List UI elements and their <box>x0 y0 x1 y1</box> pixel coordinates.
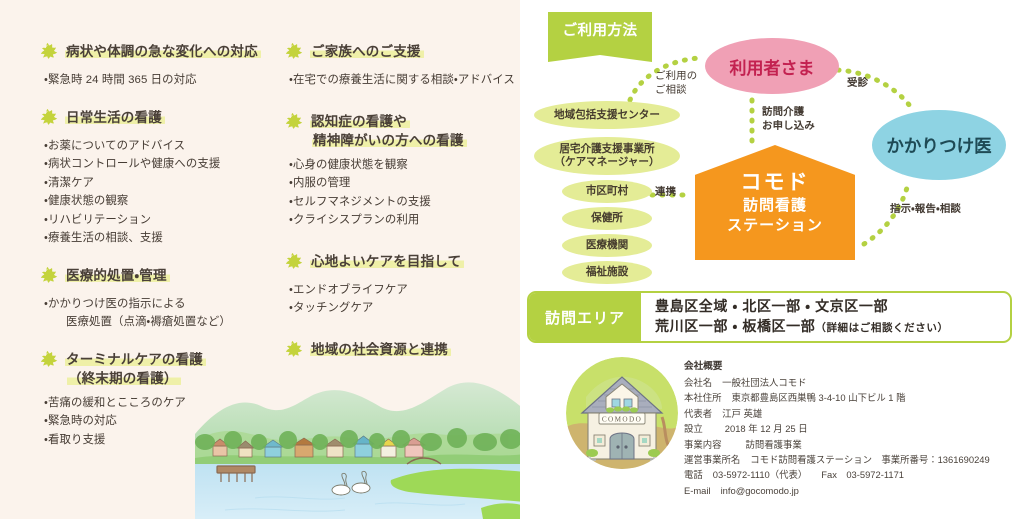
company-info-value: 江戸 英雄 <box>722 408 762 419</box>
partner-pill-municipality: 市区町村 <box>562 180 652 203</box>
company-info-value: コモド訪問看護ステーション 事業所番号：1361690249 <box>750 454 989 465</box>
leaf-icon <box>40 351 60 373</box>
svg-text:COMODO: COMODO <box>602 416 642 424</box>
leaf-icon <box>285 341 305 363</box>
list-item: ・在宅での療養生活に関する相談・アドバイス <box>289 71 520 90</box>
leaf-icon <box>285 43 305 65</box>
list-item-text: ・かかりつけ医の指示による <box>44 298 186 310</box>
list-item: ・健康状態の観察 <box>44 192 285 211</box>
service-title: 日常生活の看護 <box>65 108 165 127</box>
service-heading: ご家族へのご支援 <box>285 42 520 65</box>
list-item: ・心身の健康状態を観察 <box>289 156 520 175</box>
service-section: 心地よいケアを目指して ・エンドオブライフケア ・タッチングケア <box>285 252 520 318</box>
flow-label-cooperation: 連携 <box>655 186 676 200</box>
services-column-b: ご家族へのご支援 ・在宅での療養生活に関する相談・アドバイス 認知症の看護や 精… <box>285 42 520 377</box>
company-info-row: 本社住所東京都豊島区西巣鴨 3-4-10 山下ビル 1 階 <box>684 390 1014 405</box>
usage-method-label: ご利用方法 <box>563 12 638 50</box>
service-item-list: ・かかりつけ医の指示による 医療処置（点滴・褥瘡処置など） <box>40 295 285 332</box>
flow-label-report: 指示・報告・相談 <box>890 203 961 217</box>
company-info-row: E-mailinfo@gocomodo.jp <box>684 483 1014 498</box>
list-item: ・リハビリテーション <box>44 211 285 230</box>
visiting-area-tag-label: 訪問エリア <box>545 307 625 328</box>
company-info-key: 運営事業所名 <box>684 452 740 467</box>
list-item: ・お薬についてのアドバイス <box>44 137 285 156</box>
company-info-key: E-mail <box>684 483 711 498</box>
company-info-key: 設立 <box>684 421 703 436</box>
visiting-area-text: 豊島区全域 ・ 北区一部 ・ 文京区一部 荒川区一部 ・ 板橋区一部（詳細はご相… <box>641 293 1010 341</box>
company-info-row: 代表者江戸 英雄 <box>684 406 1014 421</box>
list-item: ・クライシスプランの利用 <box>289 211 520 230</box>
list-item-subtext: 医療処置（点滴・褥瘡処置など） <box>54 313 285 332</box>
company-info-value: 東京都豊島区西巣鴨 3-4-10 山下ビル 1 階 <box>732 392 906 403</box>
services-panel: 病状や体調の急な変化への対応 ・緊急時 24 時間 365 日の対応 日常生活の… <box>0 0 520 519</box>
usage-method-banner: ご利用方法 <box>548 12 652 62</box>
company-info-key: 本社住所 <box>684 390 722 405</box>
list-item: ・緊急時 24 時間 365 日の対応 <box>44 71 285 90</box>
partner-pill-care-manager: 居宅介護支援事業所 （ケアマネージャー） <box>534 137 680 175</box>
service-item-list: ・緊急時 24 時間 365 日の対応 <box>40 71 285 90</box>
comodo-house-illustration: COMODO <box>566 357 678 469</box>
visiting-area-tag: 訪問エリア <box>529 293 641 341</box>
company-info-row: 事業内容訪問看護事業 <box>684 437 1014 452</box>
leaf-icon <box>40 109 60 131</box>
service-heading: 日常生活の看護 <box>40 108 285 131</box>
visiting-area-note: （詳細はご相談ください） <box>815 322 948 334</box>
list-item: ・セルフマネジメントの支援 <box>289 193 520 212</box>
leaf-icon <box>40 267 60 289</box>
visiting-area-box: 訪問エリア 豊島区全域 ・ 北区一部 ・ 文京区一部 荒川区一部 ・ 板橋区一部… <box>527 291 1012 343</box>
service-section: 地域の社会資源と連携 <box>285 340 520 363</box>
service-item-list: ・在宅での療養生活に関する相談・アドバイス <box>285 71 520 90</box>
service-heading: 地域の社会資源と連携 <box>285 340 520 363</box>
service-title: 病状や体調の急な変化への対応 <box>65 42 261 61</box>
company-info-row: 電話03-5972-1110（代表） Fax 03-5972-1171 <box>684 467 1014 482</box>
partner-label: 居宅介護支援事業所 （ケアマネージャー） <box>554 143 659 169</box>
list-item: ・エンドオブライフケア <box>289 281 520 300</box>
company-info-row: 会社名一般社団法人コモド <box>684 375 1014 390</box>
service-heading: 認知症の看護や 精神障がいの方への看護 <box>285 112 520 150</box>
partner-pill-medical-institution: 医療機関 <box>562 234 652 257</box>
service-item-list: ・心身の健康状態を観察 ・内服の管理 ・セルフマネジメントの支援 ・クライシスプ… <box>285 156 520 230</box>
service-heading: 医療的処置・管理 <box>40 266 285 289</box>
service-title: 心地よいケアを目指して <box>310 252 464 271</box>
station-name-line3: ステーション <box>727 216 823 236</box>
list-item: ・清潔ケア <box>44 174 285 193</box>
family-doctor-node: かかりつけ医 <box>872 110 1006 180</box>
service-section: 日常生活の看護 ・お薬についてのアドバイス ・病状コントロールや健康への支援 ・… <box>40 108 285 248</box>
visiting-area-line2: 荒川区一部 ・ 板橋区一部（詳細はご相談ください） <box>655 316 1010 338</box>
company-info-key: 会社名 <box>684 375 712 390</box>
list-item: ・かかりつけ医の指示による 医療処置（点滴・褥瘡処置など） <box>44 295 285 332</box>
list-item: ・内服の管理 <box>289 174 520 193</box>
partner-label: 市区町村 <box>586 185 628 198</box>
service-item-list: ・お薬についてのアドバイス ・病状コントロールや健康への支援 ・清潔ケア ・健康… <box>40 137 285 248</box>
service-title: 地域の社会資源と連携 <box>310 340 451 359</box>
company-info-title: 会社概要 <box>684 358 1014 372</box>
service-section: 認知症の看護や 精神障がいの方への看護 ・心身の健康状態を観察 ・内服の管理 ・… <box>285 112 520 230</box>
service-title: ターミナルケアの看護 （終末期の看護） <box>65 350 206 388</box>
company-info: 会社概要 会社名一般社団法人コモド 本社住所東京都豊島区西巣鴨 3-4-10 山… <box>684 358 1014 498</box>
flow-label-consult: ご利用の ご相談 <box>655 70 697 98</box>
service-heading: 病状や体調の急な変化への対応 <box>40 42 285 65</box>
list-item: ・タッチングケア <box>289 299 520 318</box>
service-title: 医療的処置・管理 <box>65 266 170 285</box>
company-info-value: 2018 年 12 月 25 日 <box>725 423 808 434</box>
service-section: 病状や体調の急な変化への対応 ・緊急時 24 時間 365 日の対応 <box>40 42 285 90</box>
leaf-icon <box>40 43 60 65</box>
station-name-line2: 訪問看護 <box>743 196 807 216</box>
family-doctor-label: かかりつけ医 <box>886 133 991 158</box>
visiting-area-line1: 豊島区全域 ・ 北区一部 ・ 文京区一部 <box>655 296 1010 316</box>
partner-label: 福祉施設 <box>586 266 628 279</box>
list-item: ・病状コントロールや健康への支援 <box>44 155 285 174</box>
company-info-row: 設立2018 年 12 月 25 日 <box>684 421 1014 436</box>
brochure-page: 病状や体調の急な変化への対応 ・緊急時 24 時間 365 日の対応 日常生活の… <box>0 0 1024 519</box>
flow-label-apply: 訪問介護 お申し込み <box>762 106 815 134</box>
company-info-key: 電話 <box>684 467 703 482</box>
partner-label: 医療機関 <box>586 239 628 252</box>
list-item: ・療養生活の相談、支援 <box>44 229 285 248</box>
company-info-value: 訪問看護事業 <box>746 439 802 450</box>
user-node-label: 利用者さま <box>730 54 815 79</box>
company-info-value: 03-5972-1110（代表） Fax 03-5972-1171 <box>713 469 904 480</box>
service-title: 認知症の看護や 精神障がいの方への看護 <box>310 112 467 150</box>
service-section: 医療的処置・管理 ・かかりつけ医の指示による 医療処置（点滴・褥瘡処置など） <box>40 266 285 332</box>
service-item-list: ・エンドオブライフケア ・タッチングケア <box>285 281 520 318</box>
company-info-email[interactable]: info@gocomodo.jp <box>721 485 799 496</box>
station-name-line1: コモド <box>741 170 810 196</box>
service-title: ご家族へのご支援 <box>310 42 424 61</box>
partner-label: 保健所 <box>591 212 623 225</box>
leaf-icon <box>285 253 305 275</box>
landscape-illustration <box>195 372 525 519</box>
partner-pill-health-center: 保健所 <box>562 207 652 230</box>
company-info-key: 事業内容 <box>684 437 722 452</box>
partner-label: 地域包括支援センター <box>554 109 660 122</box>
company-info-key: 代表者 <box>684 406 712 421</box>
leaf-icon <box>285 113 305 135</box>
visiting-area-line2-main: 荒川区一部 ・ 板橋区一部 <box>655 318 815 334</box>
flow-label-visit: 受診 <box>847 77 868 91</box>
service-heading: 心地よいケアを目指して <box>285 252 520 275</box>
service-section: ご家族へのご支援 ・在宅での療養生活に関する相談・アドバイス <box>285 42 520 90</box>
company-info-row: 運営事業所名コモド訪問看護ステーション 事業所番号：1361690249 <box>684 452 1014 467</box>
company-info-value: 一般社団法人コモド <box>722 377 806 388</box>
user-node: 利用者さま <box>705 38 839 94</box>
partner-pill-community-center: 地域包括支援センター <box>534 101 680 129</box>
partner-pill-welfare-facility: 福祉施設 <box>562 261 652 284</box>
